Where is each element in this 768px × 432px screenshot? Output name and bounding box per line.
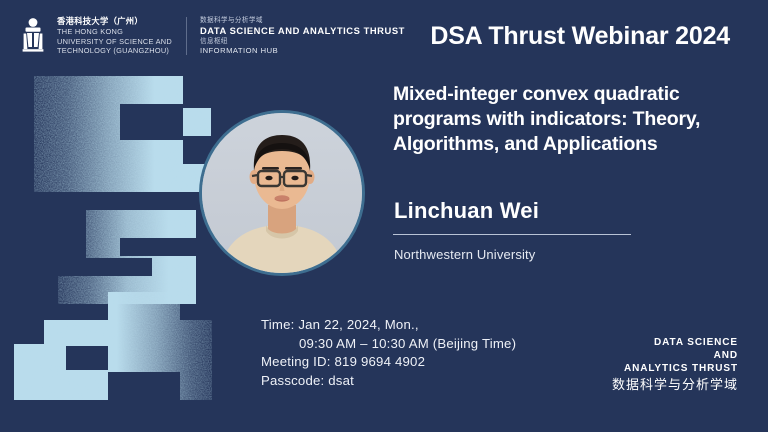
footer-line-1: DATA SCIENCE: [612, 336, 738, 349]
webinar-poster: 香港科技大学（广州） THE HONG KONG UNIVERSITY OF S…: [0, 0, 768, 432]
footer-line-2: AND: [612, 349, 738, 362]
speaker-divider: [393, 234, 631, 235]
thrust-name-en: DATA SCIENCE AND ANALYTICS THRUST: [200, 25, 405, 37]
meeting-id: Meeting ID: 819 9694 4902: [261, 353, 516, 372]
dsa-wordmark: 数据科学与分析学域 DATA SCIENCE AND ANALYTICS THR…: [200, 16, 405, 56]
speaker-affiliation: Northwestern University: [394, 247, 535, 262]
hub-name-en: INFORMATION HUB: [200, 46, 405, 56]
meeting-time-line1: Time: Jan 22, 2024, Mon.,: [261, 316, 516, 335]
meeting-time-line2: 09:30 AM – 10:30 AM (Beijing Time): [261, 335, 516, 354]
hkust-wordmark: 香港科技大学（广州） THE HONG KONG UNIVERSITY OF S…: [57, 16, 172, 55]
footer-brand: DATA SCIENCE AND ANALYTICS THRUST 数据科学与分…: [612, 336, 738, 394]
hkust-emblem-icon: [18, 16, 48, 56]
hkust-name-cn: 香港科技大学（广州）: [57, 16, 172, 27]
brand-header: 香港科技大学（广州） THE HONG KONG UNIVERSITY OF S…: [18, 14, 405, 58]
header-divider: [186, 17, 187, 55]
hkust-name-en-2: UNIVERSITY OF SCIENCE AND: [57, 37, 172, 46]
meeting-passcode: Passcode: dsat: [261, 372, 516, 391]
speaker-name: Linchuan Wei: [394, 198, 539, 224]
speaker-portrait: [199, 110, 365, 276]
webinar-series-title: DSA Thrust Webinar 2024: [430, 22, 730, 51]
meeting-info: Time: Jan 22, 2024, Mon., 09:30 AM – 10:…: [261, 316, 516, 390]
talk-title: Mixed-integer convex quadratic programs …: [393, 82, 743, 157]
footer-line-3: ANALYTICS THRUST: [612, 362, 738, 375]
hub-name-cn: 信息枢纽: [200, 37, 405, 46]
thrust-name-cn: 数据科学与分析学域: [200, 16, 405, 25]
hkust-name-en-3: TECHNOLOGY (GUANGZHOU): [57, 46, 172, 55]
footer-line-cn: 数据科学与分析学域: [612, 376, 738, 394]
hkust-name-en-1: THE HONG KONG: [57, 27, 172, 36]
